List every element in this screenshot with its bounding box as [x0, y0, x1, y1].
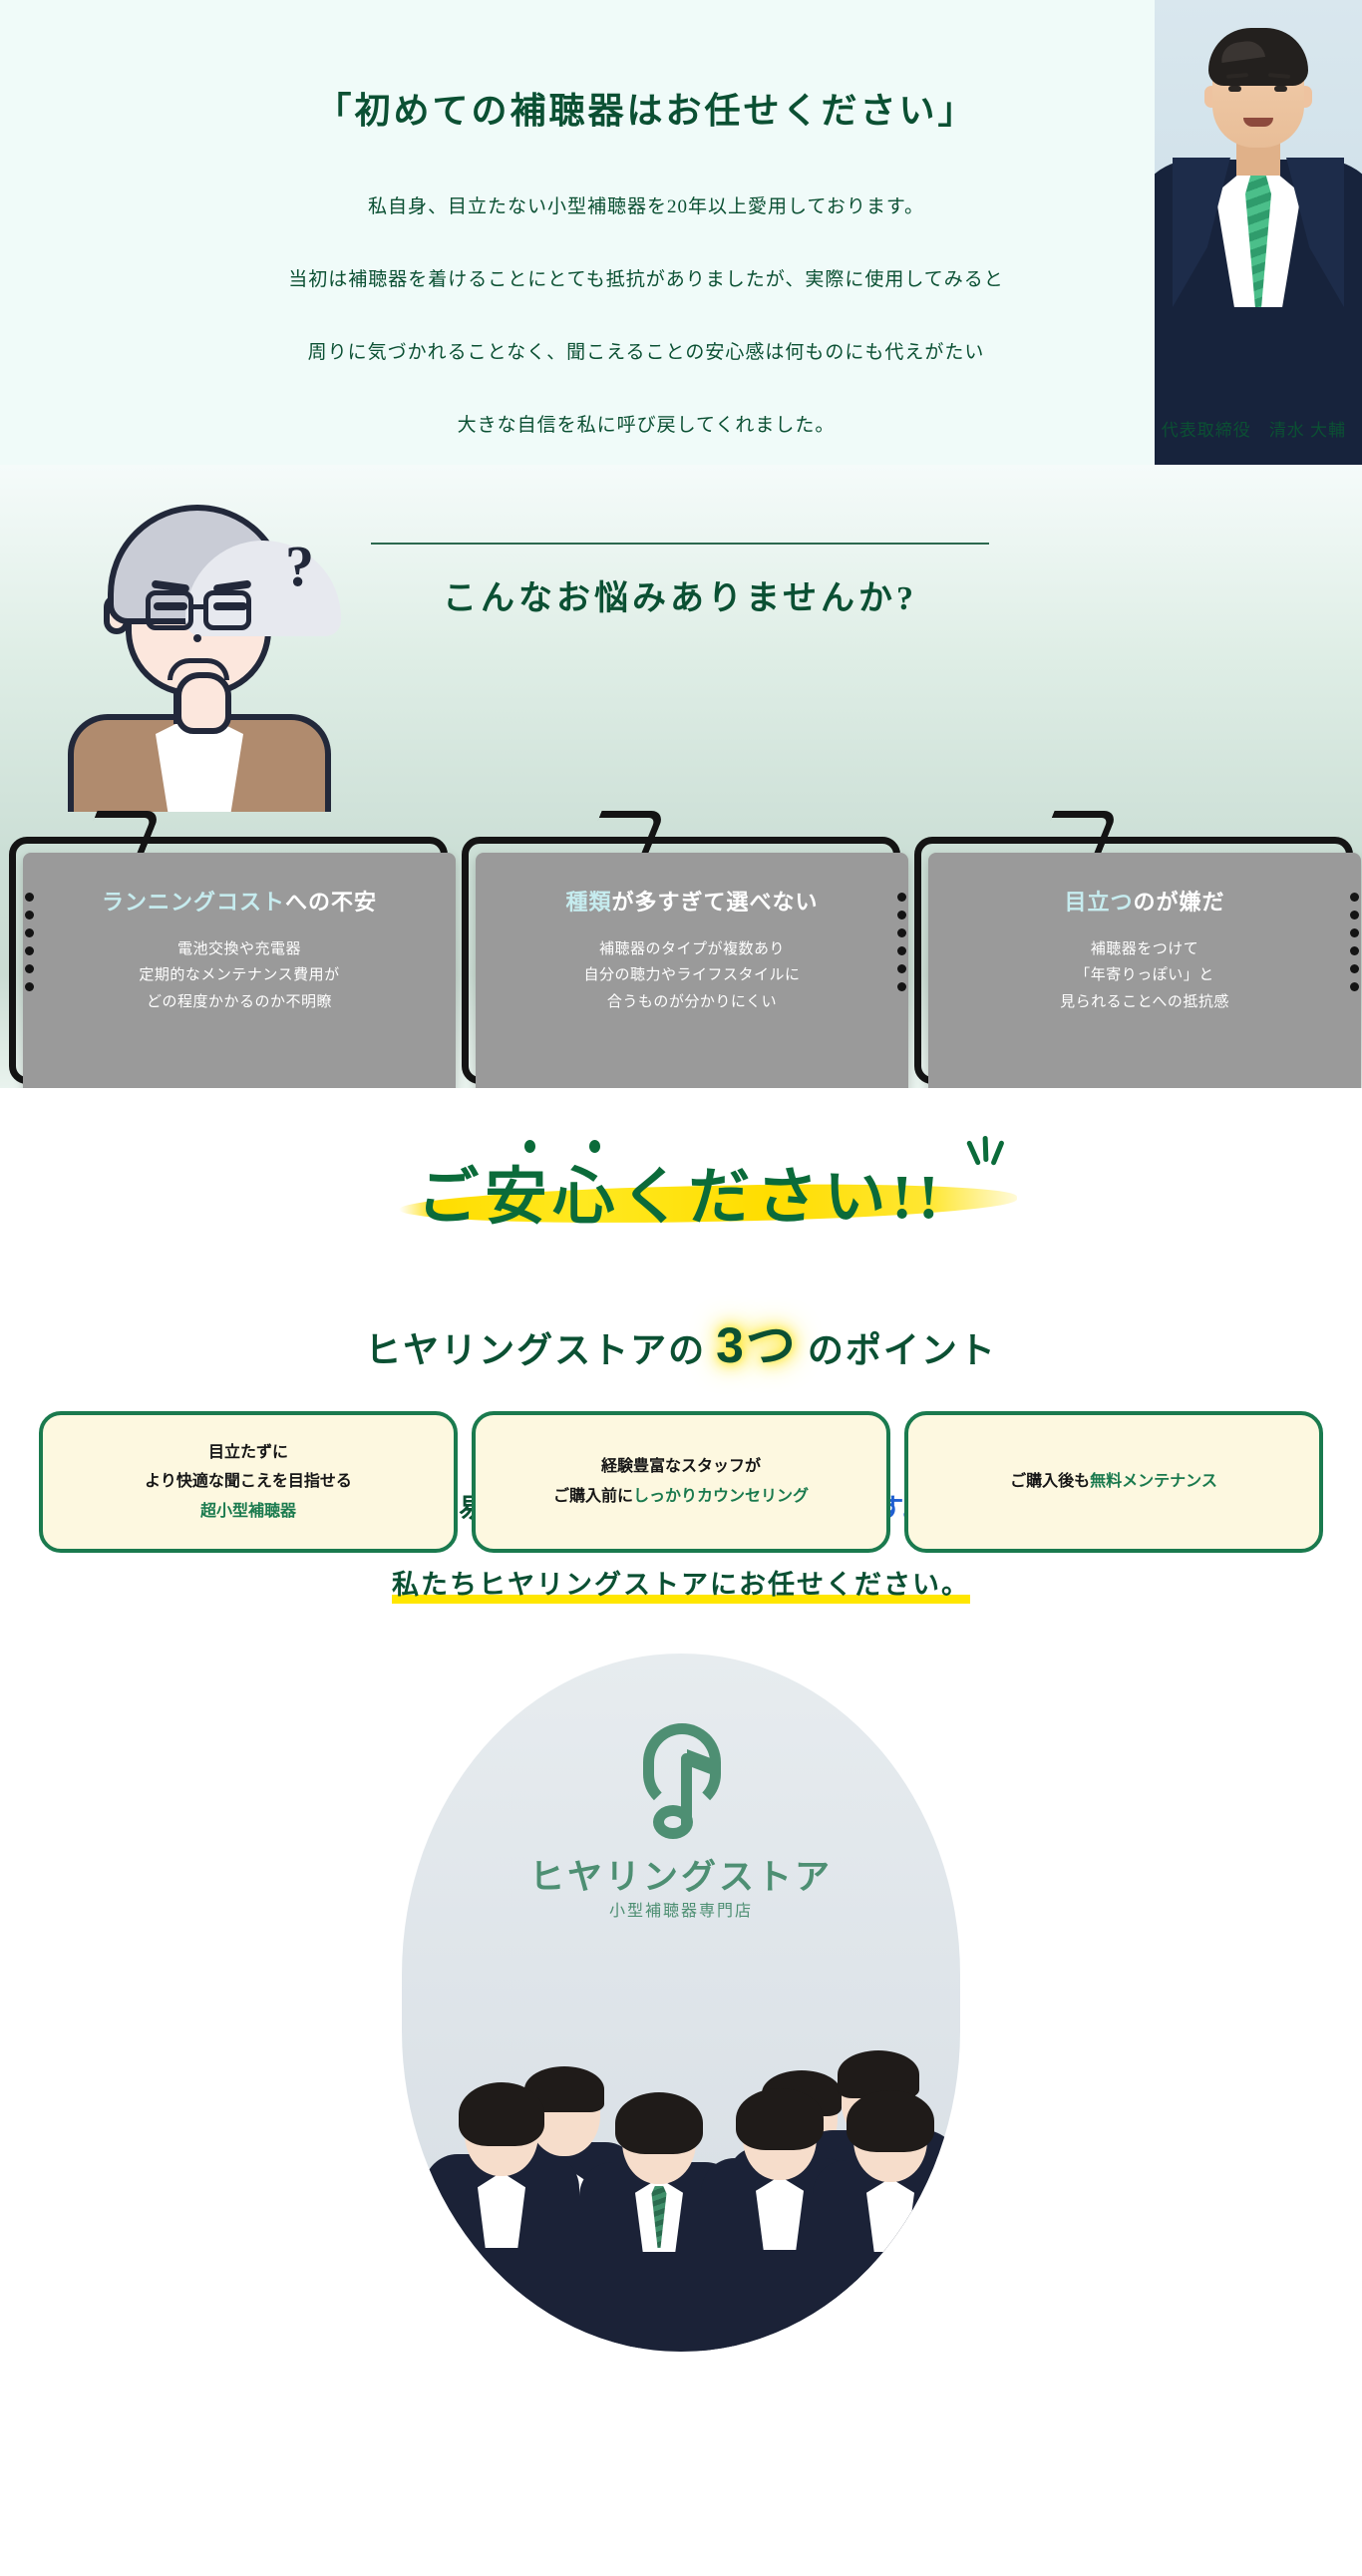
points-heading: ヒヤリングストアの 3つ のポイント — [0, 1305, 1362, 1377]
logo-wordmark: ヒヤリングストア — [402, 1849, 960, 1900]
point-card-line-2: ご購入後も無料メンテナンス — [1010, 1467, 1217, 1497]
worry-card-body: 目立つのが嫌だ 補聴器をつけて 「年寄りっぽい」と 見られることへの抵抗感 — [928, 853, 1361, 1088]
worry-card-title-highlight: 目立つ — [1064, 890, 1133, 915]
worry-card-dots — [897, 893, 906, 991]
point-card-line-2: ご購入前にしっかりカウンセリング — [553, 1482, 809, 1512]
worry-card-text-line: 見られることへの抵抗感 — [954, 989, 1335, 1015]
worry-card-text: 電池交換や充電器 定期的なメンテナンス費用が どの程度かかるのか不明瞭 — [49, 936, 430, 1015]
closing-line-2: 私たちヒヤリングストアにお任せください。 — [392, 1563, 970, 1602]
glasses-lens-left-icon — [146, 590, 193, 630]
ceo-photo — [1155, 0, 1362, 465]
worry-card-title: ランニングコストへの不安 — [49, 885, 430, 917]
point-card-accent: しっかりカウンセリング — [633, 1488, 809, 1505]
oldman-hand — [175, 672, 231, 734]
worry-card-text-line: どの程度かかるのか不明瞭 — [49, 989, 430, 1015]
points-heading-count: 3つ — [712, 1305, 802, 1377]
reassurance-section: ご安心ください!! ヒヤリングストアの 3つ のポイント 目立たずに より快適な… — [0, 1088, 1362, 1432]
worry-card-body: 種類が多すぎて選べない 補聴器のタイプが複数あり 自分の聴力やライフスタイルに … — [476, 853, 908, 1088]
staff-photo: ヒヤリングストア 小型補聴器専門店 — [402, 1654, 960, 2352]
hero-line-4: 大きな自信を私に呼び戻してくれました。 — [0, 410, 1292, 437]
worry-card-title-highlight: ランニングコスト — [102, 890, 285, 915]
points-heading-post: のポイント — [808, 1321, 997, 1373]
point-card-prefix: ご購入前に — [553, 1488, 633, 1505]
worry-card-text-line: 自分の聴力やライフスタイルに — [502, 962, 882, 988]
hero-section: 「初めての補聴器はお任せください」 私自身、目立たない小型補聴器を20年以上愛用… — [0, 0, 1362, 465]
worry-card-text-line: 合うものが分かりにくい — [502, 989, 882, 1015]
hero-line-2: 当初は補聴器を着けることにとても抵抗がありましたが、実際に使用してみると — [0, 264, 1292, 291]
oldman-nose — [193, 634, 201, 642]
ceo-mouth — [1243, 118, 1273, 127]
staff-member — [424, 2060, 579, 2352]
worry-card-body: ランニングコストへの不安 電池交換や充電器 定期的なメンテナンス費用が どの程度… — [23, 853, 456, 1088]
worry-card-list: ランニングコストへの不安 電池交換や充電器 定期的なメンテナンス費用が どの程度… — [0, 859, 1362, 1088]
point-card: 目立たずに より快適な聞こえを目指せる 超小型補聴器 — [39, 1411, 458, 1553]
point-card: ご購入後も無料メンテナンス — [904, 1411, 1323, 1553]
worry-card-text-line: 補聴器のタイプが複数あり — [502, 936, 882, 962]
ceo-signature: 代表取締役 清水 大輔 — [1162, 416, 1346, 441]
worry-card: ランニングコストへの不安 電池交換や充電器 定期的なメンテナンス費用が どの程度… — [9, 859, 448, 1088]
worry-card-dots — [1350, 893, 1359, 991]
worry-card-dots — [25, 893, 34, 991]
hero-line-3: 周りに気づかれることなく、聞こえることの安心感は何ものにも代えがたい — [0, 337, 1292, 364]
point-card-accent: 無料メンテナンス — [1090, 1473, 1217, 1490]
glasses-lens-right-icon — [203, 590, 251, 630]
staff-group — [402, 1923, 960, 2352]
worry-heading-block: こんなお悩みありませんか? — [371, 543, 989, 619]
emphasis-dots-icon — [524, 1140, 654, 1158]
ceo-eye-right — [1274, 86, 1287, 92]
worry-card-text-line: 「年寄りっぽい」と — [954, 962, 1335, 988]
staff-member — [813, 2072, 960, 2352]
worry-card-title: 目立つのが嫌だ — [954, 885, 1335, 917]
closing-line-2-block: 私たちヒヤリングストアにお任せください。 — [392, 1563, 970, 1602]
point-card-accent: 超小型補聴器 — [200, 1497, 296, 1527]
worry-heading: こんなお悩みありませんか? — [371, 570, 989, 619]
point-card-list: 目立たずに より快適な聞こえを目指せる 超小型補聴器 経験豊富なスタッフが ご購… — [0, 1411, 1362, 1553]
worried-man-illustration: ? — [48, 487, 347, 806]
worry-card: 目立つのが嫌だ 補聴器をつけて 「年寄りっぽい」と 見られることへの抵抗感 — [914, 859, 1353, 1088]
heading-divider — [371, 543, 989, 545]
worry-card-text: 補聴器をつけて 「年寄りっぽい」と 見られることへの抵抗感 — [954, 936, 1335, 1015]
worry-card-text-line: 電池交換や充電器 — [49, 936, 430, 962]
worry-card-title-rest: への不安 — [285, 890, 377, 915]
glasses-bridge-icon — [193, 604, 205, 609]
hero-line-1: 私自身、目立たない小型補聴器を20年以上愛用しております。 — [0, 191, 1292, 218]
point-card-prefix: ご購入後も — [1010, 1473, 1090, 1490]
point-card-line: 目立たずに — [208, 1438, 288, 1468]
point-card-line: より快適な聞こえを目指せる — [145, 1467, 352, 1497]
staff-photo-section: ヒヤリングストア 小型補聴器専門店 — [0, 1654, 1362, 2352]
logo-tagline: 小型補聴器専門店 — [402, 1897, 960, 1921]
worry-card-text-line: 補聴器をつけて — [954, 936, 1335, 962]
point-card: 経験豊富なスタッフが ご購入前にしっかりカウンセリング — [472, 1411, 890, 1553]
question-mark-icon: ? — [285, 533, 314, 599]
reassurance-headline-block: ご安心ください!! — [417, 1146, 944, 1236]
ear-note-logo-icon — [635, 1723, 727, 1843]
ceo-eye-left — [1228, 86, 1241, 92]
worry-card: 種類が多すぎて選べない 補聴器のタイプが複数あり 自分の聴力やライフスタイルに … — [462, 859, 900, 1088]
worry-card-title-highlight: 種類 — [565, 890, 611, 915]
points-heading-pre: ヒヤリングストアの — [365, 1321, 706, 1373]
landing-page: 「初めての補聴器はお任せください」 私自身、目立たない小型補聴器を20年以上愛用… — [0, 0, 1362, 2576]
point-card-line: 経験豊富なスタッフが — [601, 1452, 761, 1482]
worry-section: ? こんなお悩みありませんか? ランニングコストへの不安 電池交換や充電器 — [0, 465, 1362, 1088]
worry-card-title-rest: のが嫌だ — [1134, 890, 1225, 915]
worry-card-text: 補聴器のタイプが複数あり 自分の聴力やライフスタイルに 合うものが分かりにくい — [502, 936, 882, 1015]
reassurance-headline: ご安心ください!! — [417, 1146, 944, 1236]
worry-card-title-rest: が多すぎて選べない — [612, 890, 819, 915]
worry-card-title: 種類が多すぎて選べない — [502, 885, 882, 917]
worry-card-text-line: 定期的なメンテナンス費用が — [49, 962, 430, 988]
